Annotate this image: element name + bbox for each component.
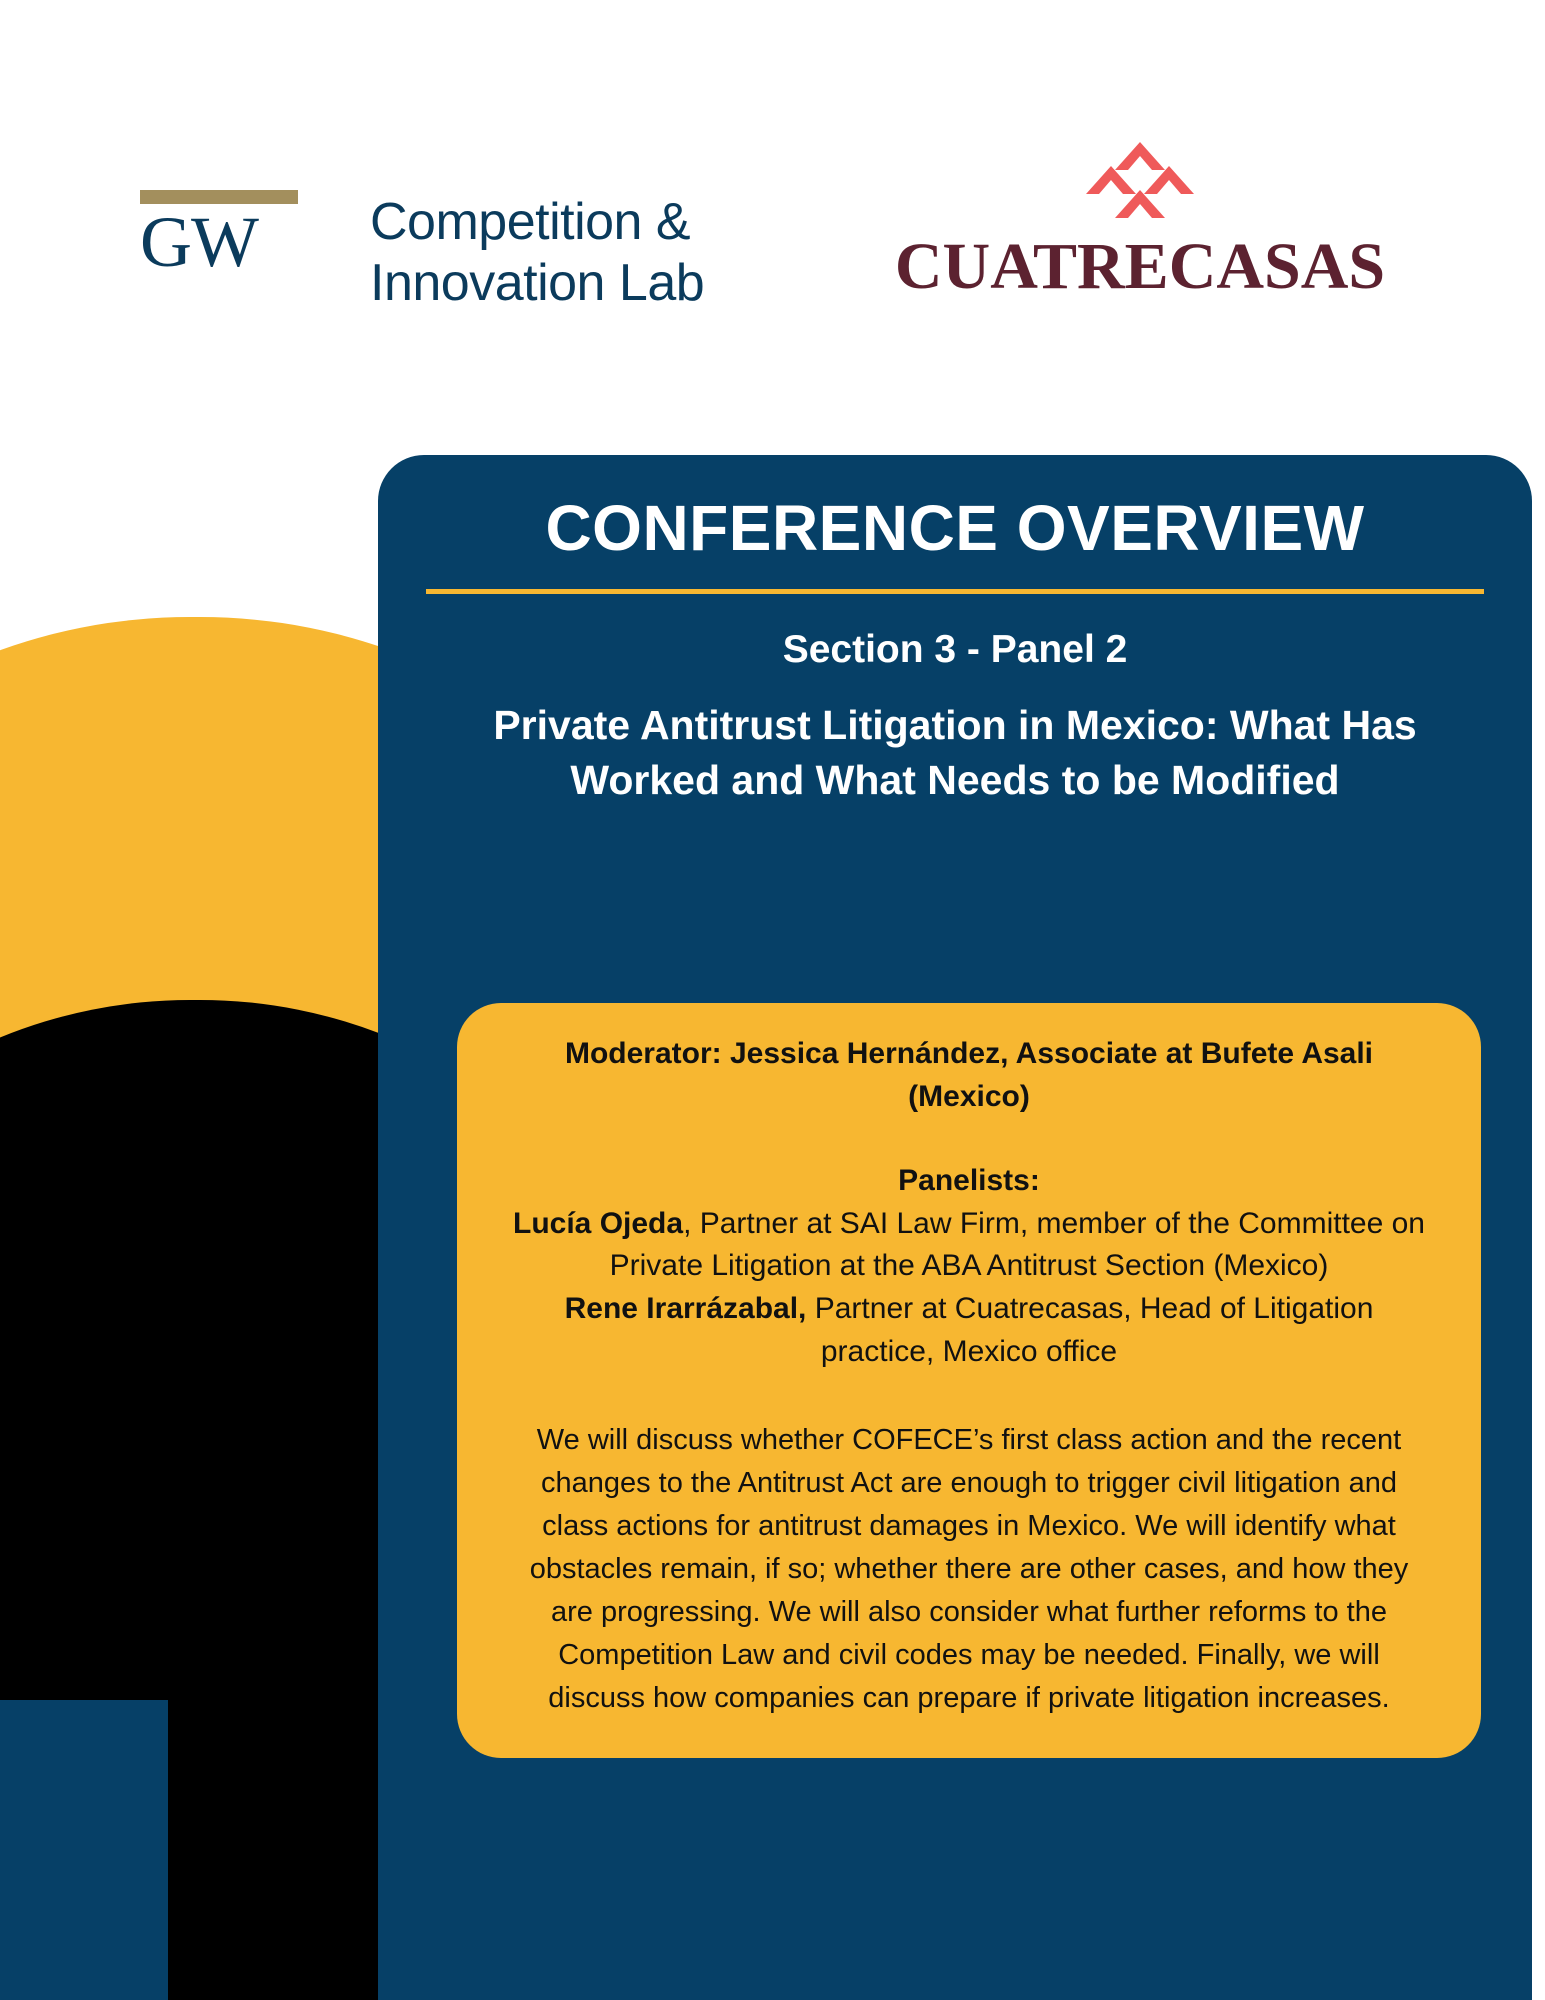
- panel-details-card: Moderator: Jessica Hernández, Associate …: [457, 1003, 1481, 1758]
- competition-innovation-lab-name: Competition & Innovation Lab: [370, 192, 704, 315]
- panelist-item: Lucía Ojeda, Partner at SAI Law Firm, me…: [509, 1203, 1429, 1288]
- title-divider: [426, 589, 1484, 594]
- logo-bar: GW Competition & Innovation Lab CUATRECA…: [0, 0, 1545, 330]
- panelists-heading: Panelists:: [509, 1160, 1429, 1203]
- cuatrecasas-chevrons-icon: [1081, 140, 1199, 226]
- panel-title: Private Antitrust Litigation in Mexico: …: [444, 698, 1466, 807]
- section-label: Section 3 - Panel 2: [398, 628, 1512, 672]
- panelist-role: , Partner at SAI Law Firm, member of the…: [610, 1207, 1425, 1283]
- panel-abstract: We will discuss whether COFECE’s first c…: [509, 1419, 1429, 1719]
- lab-name-line-1: Competition &: [370, 192, 704, 253]
- moderator-line: Moderator: Jessica Hernández, Associate …: [509, 1033, 1429, 1118]
- gw-logo-letters: GW: [140, 208, 300, 276]
- cuatrecasas-logo: CUATRECASAS: [880, 140, 1400, 300]
- gw-logo: GW: [140, 190, 300, 276]
- gold-arc-shape: [0, 617, 378, 1517]
- poster-page: GW Competition & Innovation Lab CUATRECA…: [0, 0, 1545, 2000]
- panelist-name: Rene Irarrázabal,: [565, 1292, 807, 1325]
- black-arc-shape: [0, 1000, 378, 1700]
- panelist-role: Partner at Cuatrecasas, Head of Litigati…: [806, 1292, 1373, 1368]
- lab-name-line-2: Innovation Lab: [370, 253, 704, 314]
- panelist-name: Lucía Ojeda: [513, 1207, 683, 1240]
- panelist-item: Rene Irarrázabal, Partner at Cuatrecasas…: [509, 1288, 1429, 1373]
- page-title: CONFERENCE OVERVIEW: [398, 455, 1512, 563]
- cuatrecasas-wordmark: CUATRECASAS: [880, 234, 1400, 300]
